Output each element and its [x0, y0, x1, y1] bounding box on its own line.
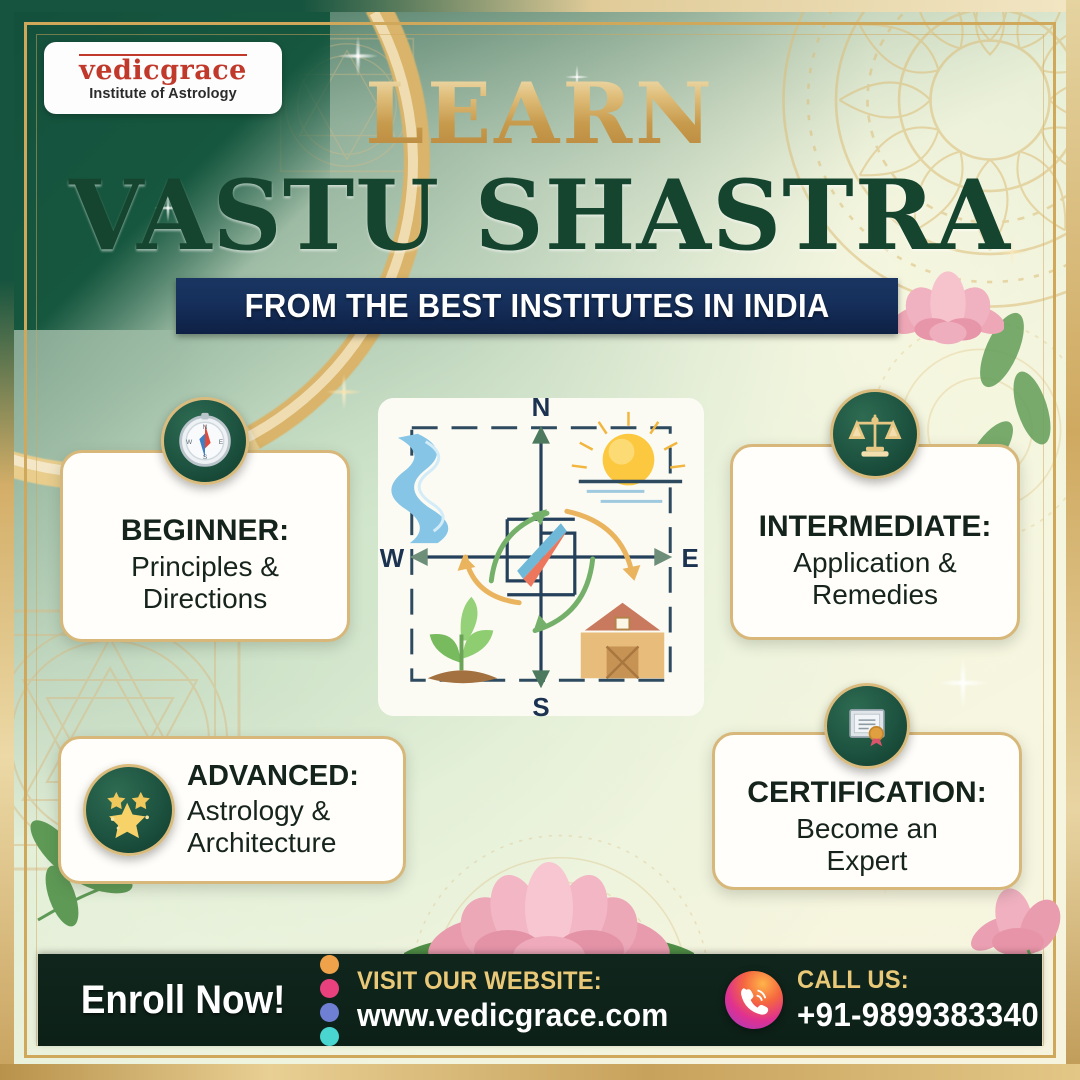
logo-tagline: Institute of Astrology [89, 86, 236, 102]
svg-text:W: W [186, 439, 193, 446]
svg-text:N: N [203, 424, 208, 431]
subtitle-banner: FROM THE BEST INSTITUTES IN INDIA [176, 278, 898, 334]
card-certification-subtitle: Become an Expert [796, 813, 938, 877]
svg-text:S: S [203, 454, 208, 461]
subtitle-banner-text: FROM THE BEST INSTITUTES IN INDIA [245, 287, 830, 325]
frame-edge-right [1066, 0, 1080, 1080]
social-dots[interactable] [320, 955, 339, 1046]
call-label: CALL US: [797, 966, 1039, 995]
footer-contact-bar: Enroll Now! VISIT OUR WEBSITE: www.vedic… [38, 954, 1042, 1046]
frame-edge-top [0, 0, 1080, 12]
website-block[interactable]: VISIT OUR WEBSITE: www.vedicgrace.com [357, 967, 685, 1034]
card-advanced[interactable]: ADVANCED: Astrology & Architecture [58, 736, 406, 884]
social-dot-3[interactable] [320, 1003, 339, 1022]
compass-icon: N S W E [161, 397, 249, 485]
direction-label-south: S [532, 694, 549, 722]
sparkle-icon [318, 366, 370, 418]
card-certification-title: CERTIFICATION: [747, 777, 986, 809]
card-intermediate[interactable]: INTERMEDIATE: Application & Remedies [730, 444, 1020, 640]
scales-icon [830, 389, 920, 479]
enroll-now-cta[interactable]: Enroll Now! [81, 978, 285, 1023]
frame-edge-left [0, 0, 14, 1080]
vastu-direction-diagram: N S W E [372, 392, 710, 722]
card-intermediate-subtitle: Application & Remedies [793, 547, 956, 611]
call-block[interactable]: CALL US: +91-9899383340 [797, 966, 1052, 1034]
sparkle-icon [928, 648, 998, 718]
card-beginner-title: BEGINNER: [121, 515, 289, 547]
website-label: VISIT OUR WEBSITE: [357, 967, 668, 996]
call-number[interactable]: +91-9899383340 [797, 996, 1039, 1034]
website-url[interactable]: www.vedicgrace.com [357, 997, 668, 1034]
lotus-flower-icon [892, 262, 1004, 348]
headline-vastu-shastra: VASTU SHASTRA [0, 168, 1080, 264]
frame-edge-bottom [0, 1064, 1080, 1080]
card-advanced-subtitle: Astrology & Architecture [187, 795, 359, 859]
card-beginner-subtitle: Principles & Directions [131, 551, 279, 615]
poster-root: vedicgrace Institute of Astrology LEARN … [0, 0, 1080, 1080]
card-beginner[interactable]: N S W E BEGINNER: Principles & Direction… [60, 450, 350, 642]
brand-logo[interactable]: vedicgrace Institute of Astrology [44, 42, 282, 114]
direction-label-north: N [532, 394, 551, 422]
stars-icon [83, 764, 175, 856]
social-dot-4[interactable] [320, 1027, 339, 1046]
direction-label-east: E [681, 545, 698, 573]
social-dot-1[interactable] [320, 955, 339, 974]
card-certification[interactable]: CERTIFICATION: Become an Expert [712, 732, 1022, 890]
svg-text:E: E [219, 439, 224, 446]
social-dot-2[interactable] [320, 979, 339, 998]
logo-wordmark: vedicgrace [79, 54, 247, 85]
card-advanced-title: ADVANCED: [187, 761, 359, 792]
direction-label-west: W [380, 545, 405, 573]
certificate-icon [824, 683, 910, 769]
phone-call-icon[interactable] [725, 971, 783, 1029]
card-intermediate-title: INTERMEDIATE: [759, 511, 992, 543]
